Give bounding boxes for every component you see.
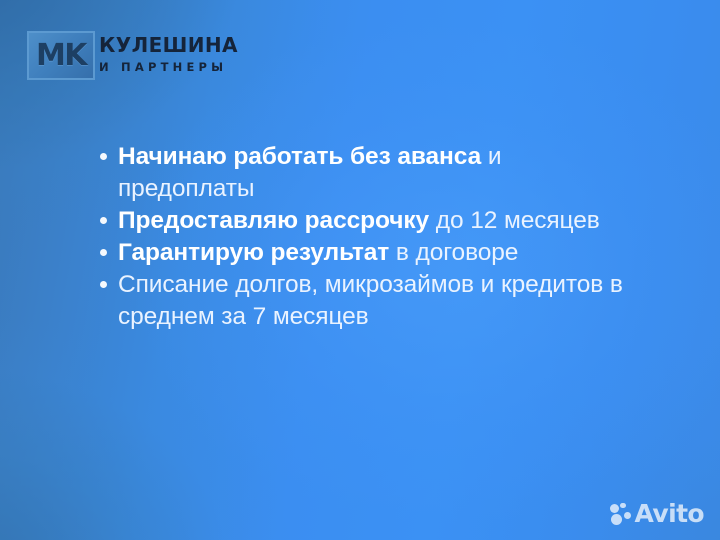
list-item-rest: в договоре [389,239,518,266]
avito-dots-icon [610,503,632,525]
logo-title: КУЛЕШИНА [99,35,238,55]
brand-logo: MK КУЛЕШИНА И ПАРТНЕРЫ [27,31,238,80]
logo-monogram-text: MK [36,41,86,71]
list-item: Списание долгов, микрозаймов и кредитов … [100,269,640,333]
logo-wordmark: КУЛЕШИНА И ПАРТНЕРЫ [99,31,238,74]
list-item-rest: Списание долгов, микрозаймов и кредитов … [118,271,623,330]
avito-watermark: Avito [610,501,704,526]
list-item-text: Гарантирую результат в договоре [118,237,640,269]
avito-wordmark: Avito [635,501,704,526]
list-item-text: Предоставляю рассрочку до 12 месяцев [118,205,640,237]
list-item-text: Списание долгов, микрозаймов и кредитов … [118,269,640,333]
list-item: Предоставляю рассрочку до 12 месяцев [100,205,640,237]
bullet-marker-icon [100,141,118,160]
bullet-marker-icon [100,205,118,224]
list-item-rest: до 12 месяцев [429,207,600,234]
list-item-emphasis: Предоставляю рассрочку [118,207,429,234]
list-item-emphasis: Начинаю работать без аванса [118,143,481,170]
list-item: Начинаю работать без аванса и предоплаты [100,141,640,205]
bullet-marker-icon [100,237,118,256]
list-item: Гарантирую результат в договоре [100,237,640,269]
bullet-marker-icon [100,269,118,288]
logo-subtitle: И ПАРТНЕРЫ [99,62,238,74]
list-item-text: Начинаю работать без аванса и предоплаты [118,141,640,205]
benefits-list: Начинаю работать без аванса и предоплаты… [100,141,640,333]
list-item-emphasis: Гарантирую результат [118,239,389,266]
logo-monogram-box: MK [27,31,95,80]
promo-slide: MK КУЛЕШИНА И ПАРТНЕРЫ Начинаю работать … [0,0,720,540]
